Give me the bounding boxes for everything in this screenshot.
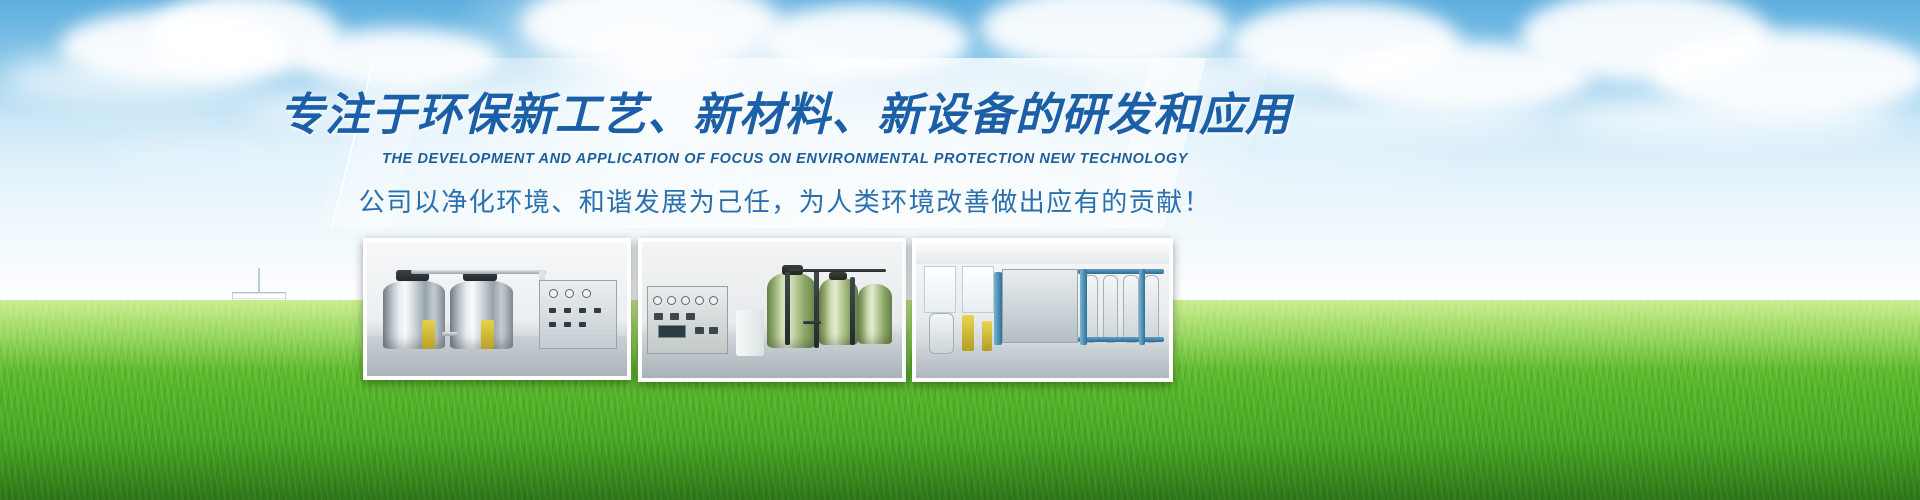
banner-subline-english: THE DEVELOPMENT AND APPLICATION OF FOCUS…: [0, 151, 1570, 167]
photo-thumbnail-ro-hall[interactable]: [912, 238, 1173, 382]
photo-thumbnail-stainless-tanks[interactable]: [363, 238, 631, 380]
photo-thumbnail-row: [363, 238, 1173, 386]
photo-thumbnail-frp-tanks[interactable]: [638, 238, 906, 382]
banner-subline-chinese: 公司以净化环境、和谐发展为己任，为人类环境改善做出应有的贡献！: [0, 182, 1570, 219]
banner-headline: 专注于环保新工艺、新材料、新设备的研发和应用: [0, 86, 1570, 144]
grass-shadow: [0, 440, 1920, 500]
hero-banner: 专注于环保新工艺、新材料、新设备的研发和应用 THE DEVELOPMENT A…: [0, 0, 1920, 500]
banner-copy: 专注于环保新工艺、新材料、新设备的研发和应用 THE DEVELOPMENT A…: [0, 86, 1570, 219]
